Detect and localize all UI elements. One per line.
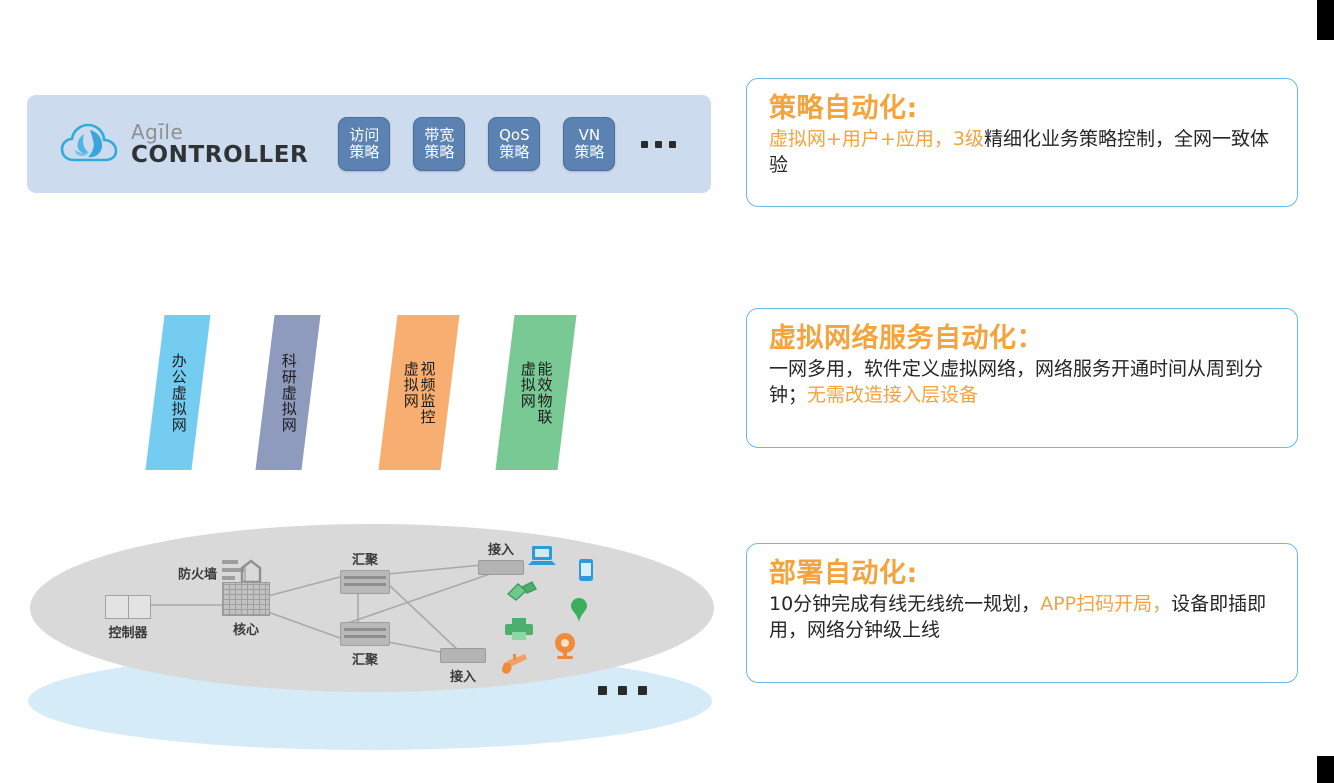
node-label: 防火墙 [178, 564, 217, 583]
node-label: 接入 [488, 539, 514, 558]
endpoint-laptop[interactable] [527, 544, 557, 572]
card-policy-automation: 策略自动化: 虚拟网+用户+应用，3级精细化业务策略控制，全网一致体验 [746, 78, 1298, 207]
access-switch-icon [478, 560, 524, 575]
card-title: 虚拟网络服务自动化： [769, 323, 1277, 355]
switch-icon [340, 622, 390, 646]
policy-chip-group: 访问 策略 带宽 策略 QoS 策略 VN 策略 [338, 117, 676, 171]
webcam-icon [552, 632, 578, 660]
cloud-icon [60, 120, 120, 168]
topology-node-core[interactable]: 核心 [222, 582, 270, 616]
card-title: 部署自动化: [769, 558, 1277, 590]
policy-chip-qos[interactable]: QoS 策略 [488, 117, 540, 171]
lightbulb-icon [570, 597, 588, 623]
switch-icon [340, 570, 390, 594]
policy-more-ellipsis-icon [641, 141, 676, 148]
node-label: 接入 [450, 666, 476, 685]
topology-node-aggregation-bottom[interactable]: 汇聚 [340, 622, 390, 646]
right-edge-bar-bottom [1317, 756, 1334, 783]
endpoint-webcam[interactable] [552, 632, 578, 664]
smartphone-icon [578, 558, 594, 582]
logo-text-agile: Agīle [131, 122, 308, 142]
topology-node-controller[interactable]: 控制器 [105, 595, 151, 619]
vn-slab-research[interactable]: 科研虚拟网 [255, 315, 320, 470]
card-body: 10分钟完成有线无线统一规划，APP扫码开局，设备即插即用，网络分钟级上线 [769, 592, 1277, 643]
card-virtual-network-service-automation: 虚拟网络服务自动化： 一网多用，软件定义虚拟网络，网络服务开通时间从周到分钟；无… [746, 308, 1298, 448]
chip-line-2: 策略 [499, 144, 529, 161]
endpoint-printer[interactable] [504, 617, 534, 645]
chip-line-1: VN [579, 127, 600, 144]
agile-controller-logo: Agīle CONTROLLER [60, 120, 308, 168]
card-title: 策略自动化: [769, 93, 1277, 125]
scanner-icon [506, 580, 538, 602]
vn-slab-label: 能效物联 虚拟网 [519, 361, 553, 425]
chip-line-1: 访问 [349, 127, 379, 144]
right-edge-bar-top [1317, 0, 1334, 40]
endpoint-cctv[interactable] [501, 653, 527, 681]
policy-chip-access[interactable]: 访问 策略 [338, 117, 390, 171]
chip-line-2: 策略 [349, 144, 379, 161]
endpoint-lightbulb[interactable] [570, 597, 588, 627]
cctv-icon [501, 653, 527, 677]
endpoint-scanner[interactable] [506, 580, 538, 606]
card-body-rest: 10分钟完成有线无线统一规划， [769, 593, 1040, 615]
topology-node-access-bottom[interactable]: 接入 [440, 648, 486, 663]
card-body: 一网多用，软件定义虚拟网络，网络服务开通时间从周到分钟；无需改造接入层设备 [769, 357, 1277, 408]
vn-slab-iot-energy[interactable]: 能效物联 虚拟网 [495, 315, 576, 470]
card-body-highlight: APP扫码开局， [1040, 593, 1171, 615]
node-label: 汇聚 [352, 549, 378, 568]
node-label: 汇聚 [352, 649, 378, 668]
access-switch-icon [440, 648, 486, 663]
printer-icon [504, 617, 534, 641]
vn-slab-label: 办公虚拟网 [170, 353, 187, 433]
vn-slab-video-surveillance[interactable]: 视频监控 虚拟网 [378, 315, 459, 470]
node-label: 控制器 [108, 622, 147, 641]
chip-line-1: QoS [499, 127, 530, 144]
card-body-highlight: 无需改造接入层设备 [807, 384, 978, 406]
card-body: 虚拟网+用户+应用，3级精细化业务策略控制，全网一致体验 [769, 127, 1277, 178]
topology-node-access-top[interactable]: 接入 [478, 560, 524, 575]
vn-slab-office[interactable]: 办公虚拟网 [145, 315, 210, 470]
topology-node-aggregation-top[interactable]: 汇聚 [340, 570, 390, 594]
chip-line-1: 带宽 [424, 127, 454, 144]
chip-line-2: 策略 [424, 144, 454, 161]
topology-stage: 控制器 防火墙 核心 汇聚 汇聚 接入 接入 [0, 512, 740, 697]
card-deployment-automation: 部署自动化: 10分钟完成有线无线统一规划，APP扫码开局，设备即插即用，网络分… [746, 543, 1298, 683]
endpoint-smartphone[interactable] [578, 558, 594, 586]
agile-controller-banner: Agīle CONTROLLER 访问 策略 带宽 策略 QoS 策略 VN 策… [27, 95, 711, 193]
policy-chip-bandwidth[interactable]: 带宽 策略 [413, 117, 465, 171]
vn-slab-label: 视频监控 虚拟网 [402, 361, 436, 425]
card-body-highlight: 虚拟网+用户+应用，3级 [769, 128, 984, 150]
logo-text-controller: CONTROLLER [131, 144, 308, 167]
node-label: 核心 [233, 619, 259, 638]
virtual-network-stage: 办公虚拟网 科研虚拟网 视频监控 虚拟网 能效物联 虚拟网 [0, 300, 730, 500]
policy-chip-vn[interactable]: VN 策略 [563, 117, 615, 171]
vn-slab-label: 科研虚拟网 [280, 353, 297, 433]
chip-line-2: 策略 [574, 144, 604, 161]
laptop-icon [527, 544, 557, 568]
